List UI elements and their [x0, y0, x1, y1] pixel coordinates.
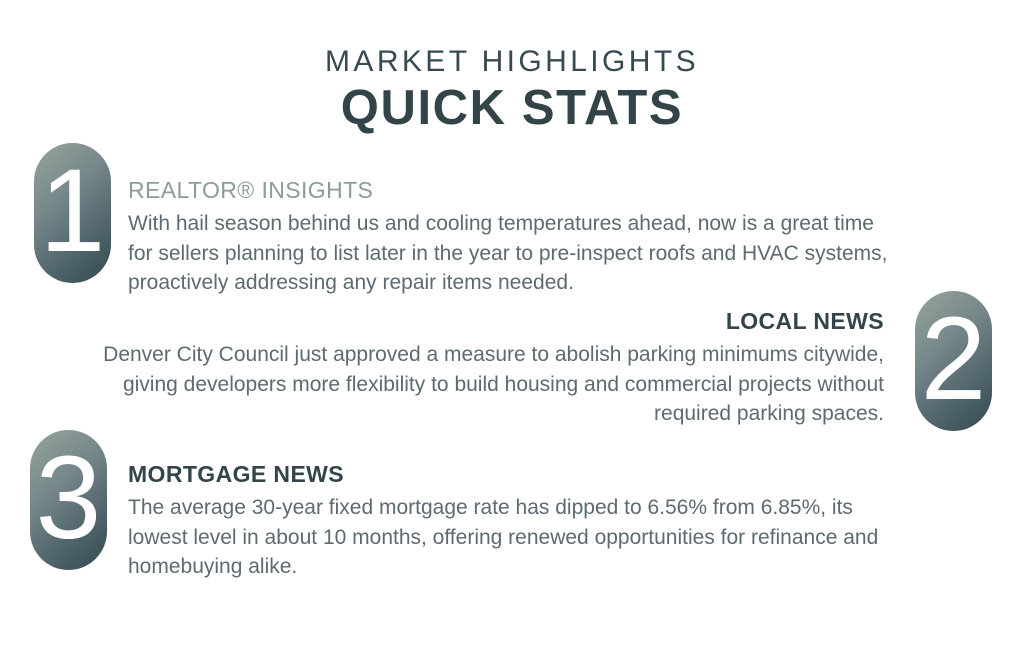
highlight-item-mortgage-news: MORTGAGE NEWS The average 30-year fixed … [128, 460, 918, 582]
badge-numeral: 2 [921, 300, 987, 418]
highlight-item-realtor-insights: REALTOR® INSIGHTS With hail season behin… [128, 176, 900, 298]
item-body: With hail season behind us and cooling t… [128, 209, 900, 298]
badge-numeral: 1 [40, 152, 106, 270]
number-badge-2: 2 [915, 291, 992, 431]
item-body: Denver City Council just approved a meas… [100, 340, 884, 429]
number-badge-3: 3 [30, 430, 107, 570]
header-kicker: MARKET HIGHLIGHTS [0, 46, 1024, 78]
item-heading: LOCAL NEWS [100, 307, 884, 336]
item-heading: MORTGAGE NEWS [128, 460, 918, 489]
number-badge-1: 1 [34, 143, 111, 283]
item-heading: REALTOR® INSIGHTS [128, 176, 900, 205]
badge-numeral: 3 [36, 439, 102, 557]
page-title: QUICK STATS [0, 81, 1024, 136]
page-header: MARKET HIGHLIGHTS QUICK STATS [0, 46, 1024, 135]
item-body: The average 30-year fixed mortgage rate … [128, 493, 918, 582]
highlight-item-local-news: LOCAL NEWS Denver City Council just appr… [100, 307, 884, 429]
infographic-canvas: MARKET HIGHLIGHTS QUICK STATS 1 REALTOR®… [0, 0, 1024, 645]
